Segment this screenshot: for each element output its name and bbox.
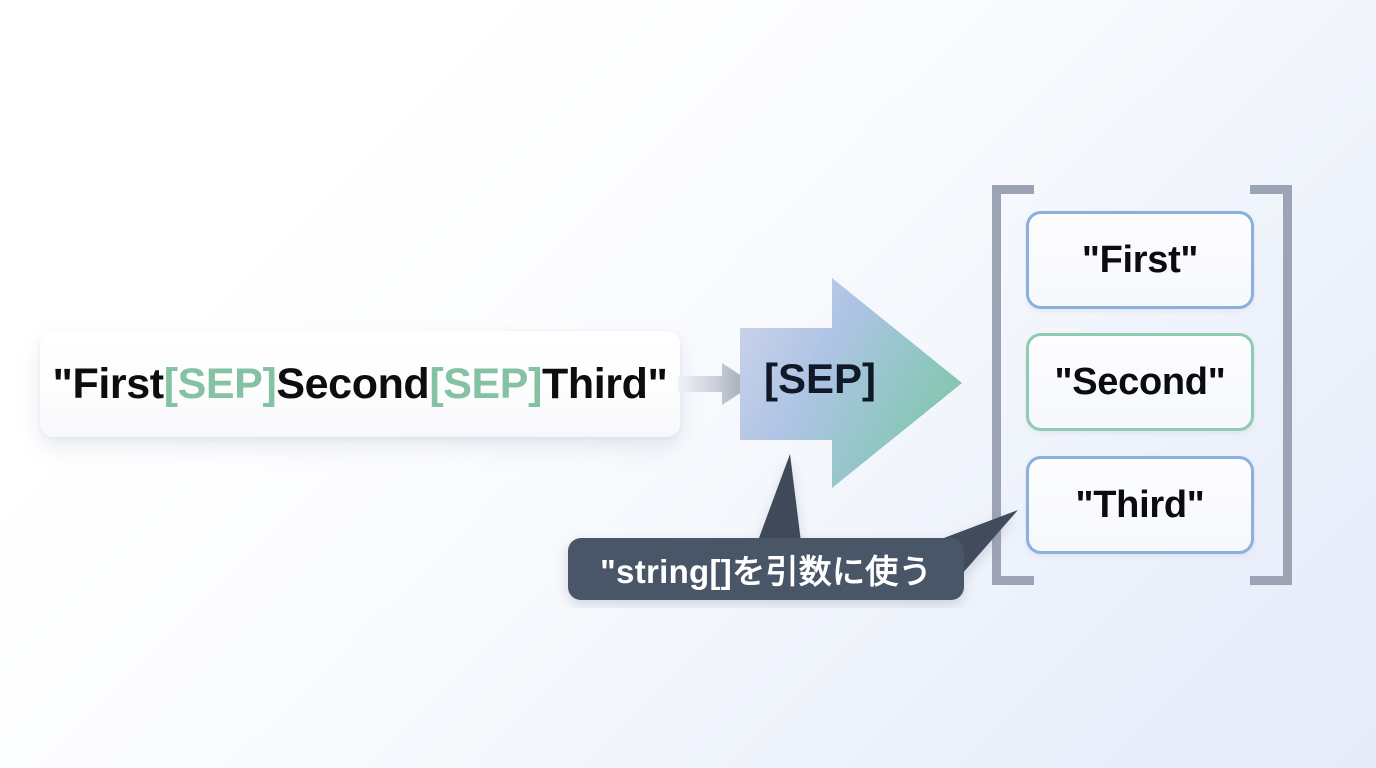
array-item-label: "First" bbox=[1082, 239, 1198, 282]
input-separator-2: [SEP] bbox=[429, 360, 542, 408]
input-string-box: "First[SEP]Second[SEP]Third" bbox=[40, 331, 680, 437]
callout-bubble: "string[]を引数に使う bbox=[556, 440, 1036, 608]
input-prefix: "First bbox=[53, 360, 164, 408]
diagram-canvas: "First[SEP]Second[SEP]Third" [SEP] bbox=[0, 0, 1376, 768]
sep-label: [SEP] bbox=[755, 355, 885, 403]
array-item: "First" bbox=[1026, 211, 1254, 309]
array-item: "Third" bbox=[1026, 456, 1254, 554]
array-item: "Second" bbox=[1026, 333, 1254, 431]
array-item-label: "Third" bbox=[1076, 484, 1205, 527]
input-string-text: "First[SEP]Second[SEP]Third" bbox=[53, 360, 668, 409]
callout-shape bbox=[556, 440, 1036, 608]
input-middle: Second bbox=[276, 360, 429, 408]
input-separator-1: [SEP] bbox=[164, 360, 277, 408]
input-suffix: Third" bbox=[542, 360, 667, 408]
array-item-label: "Second" bbox=[1055, 361, 1226, 404]
